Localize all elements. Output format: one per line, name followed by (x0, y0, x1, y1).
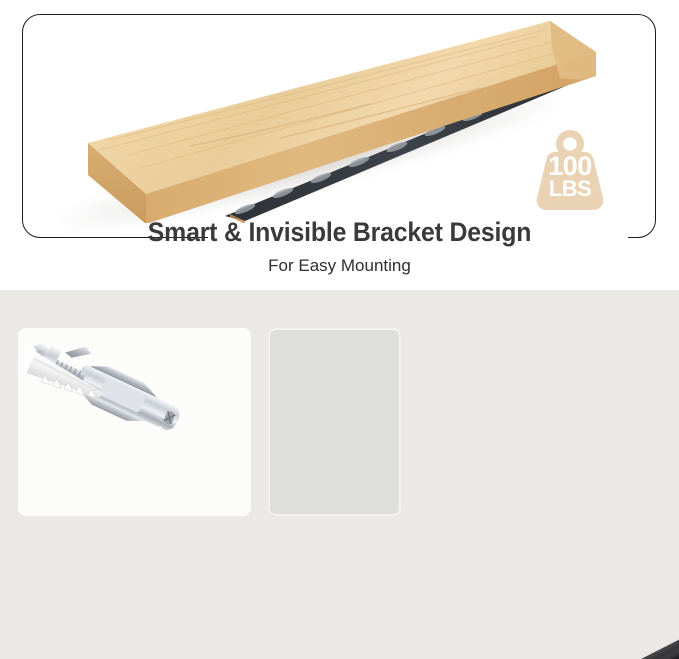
iron-tube-image (398, 620, 679, 659)
weight-capacity-badge: 100 LBS (527, 128, 613, 212)
page-title: Smart & Invisible Bracket Design (27, 217, 652, 248)
shelf-product-image (40, 18, 610, 223)
top-feature-panel: 100 LBS Smart & Invisible Bracket Design… (0, 0, 679, 290)
plastic-anchor-image (10, 338, 130, 428)
shelf-illustration (40, 18, 610, 223)
page-subtitle: For Easy Mounting (0, 256, 679, 276)
bottom-feature-panel: VS (0, 290, 679, 659)
weight-badge-text: 100 LBS (527, 154, 613, 200)
weight-unit: LBS (527, 179, 613, 200)
plastic-anchor-card (268, 328, 401, 516)
